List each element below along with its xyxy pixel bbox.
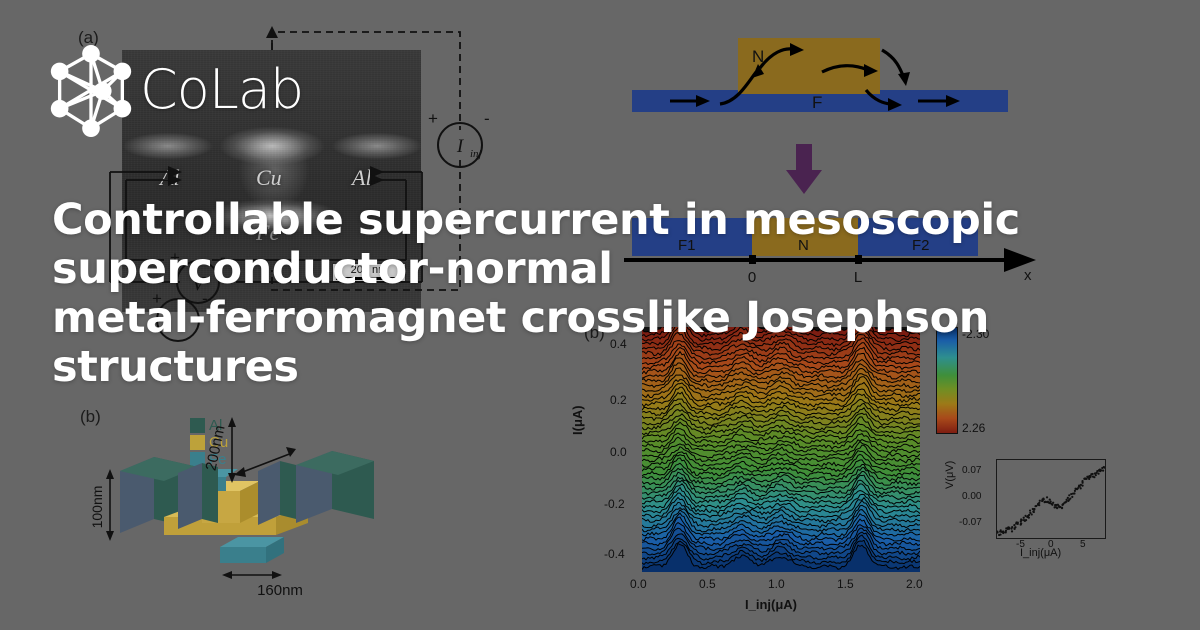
page-title: Controllable supercurrent in mesoscopic … [52,196,1192,392]
branding-overlay: CoLab Controllable supercurrent in mesos… [0,0,1200,630]
title-line-2: superconductor-normal [52,245,1192,294]
title-line-1: Controllable supercurrent in mesoscopic [52,196,1192,245]
title-line-4: structures [52,343,1192,392]
page-stage: (a) Al Cu Al Fe 200 nm [0,0,1200,630]
hexagon-network-logo-icon[interactable] [42,42,140,140]
title-line-3: metal-ferromagnet crosslike Josephson [52,294,1192,343]
brand-wordmark: CoLab [140,63,303,117]
